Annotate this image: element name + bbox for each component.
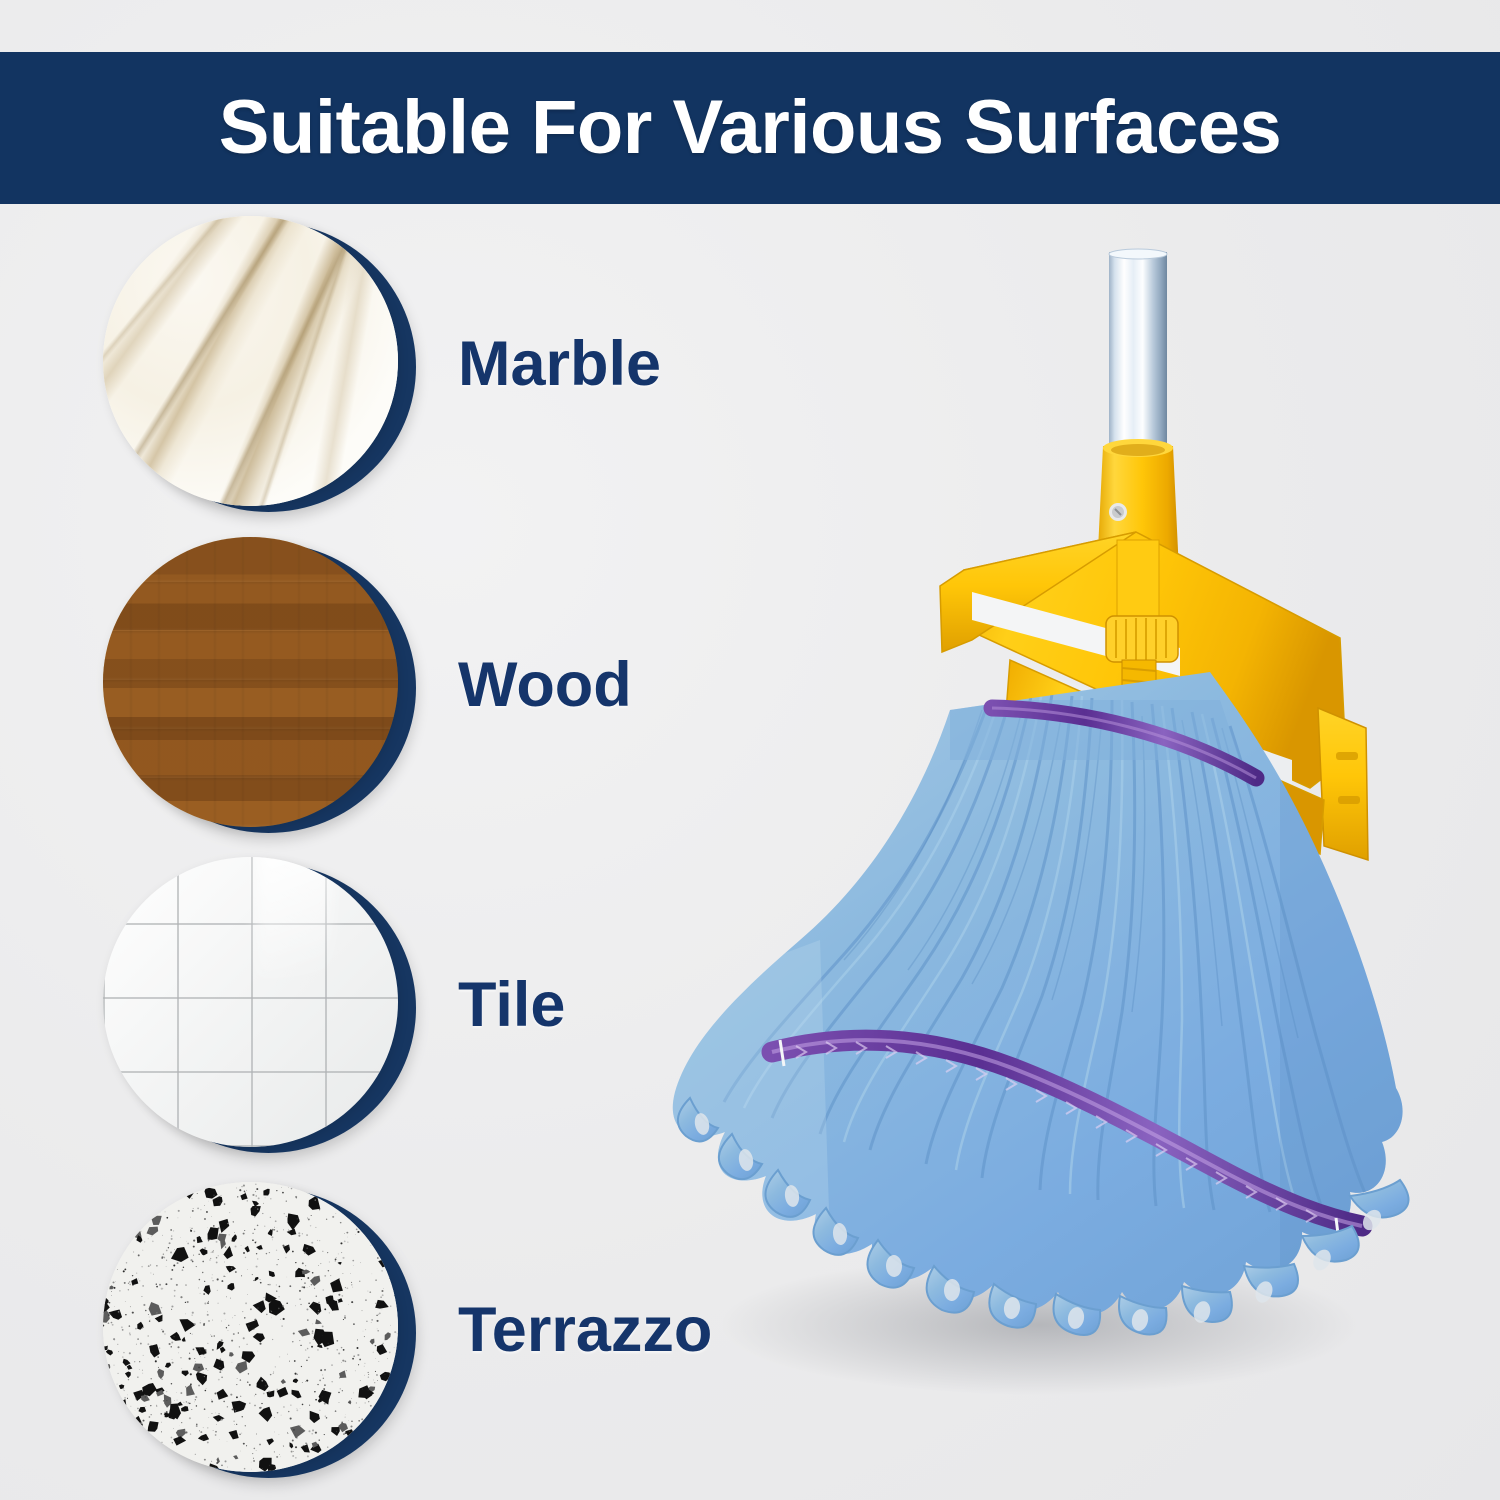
wood-swatch	[103, 535, 415, 835]
page-title: Suitable For Various Surfaces	[219, 90, 1282, 166]
wood-texture	[103, 537, 398, 827]
header-banner: Suitable For Various Surfaces	[0, 52, 1500, 204]
marble-swatch	[103, 214, 415, 514]
swatch-disc	[103, 1182, 398, 1472]
swatch-disc	[103, 216, 398, 506]
tile-texture	[103, 857, 398, 1147]
terrazzo-swatch	[103, 1180, 415, 1480]
swatch-disc	[103, 537, 398, 827]
marble-texture	[103, 216, 398, 506]
surface-label-wood: Wood	[458, 535, 632, 835]
product-image-mop	[620, 240, 1420, 1500]
tile-swatch	[103, 855, 415, 1155]
surface-label-tile: Tile	[458, 855, 565, 1155]
mop-handle	[1109, 249, 1167, 464]
swatch-disc	[103, 857, 398, 1147]
infographic-canvas: Suitable For Various Surfaces Marble Woo…	[0, 0, 1500, 1500]
terrazzo-texture	[103, 1182, 398, 1472]
